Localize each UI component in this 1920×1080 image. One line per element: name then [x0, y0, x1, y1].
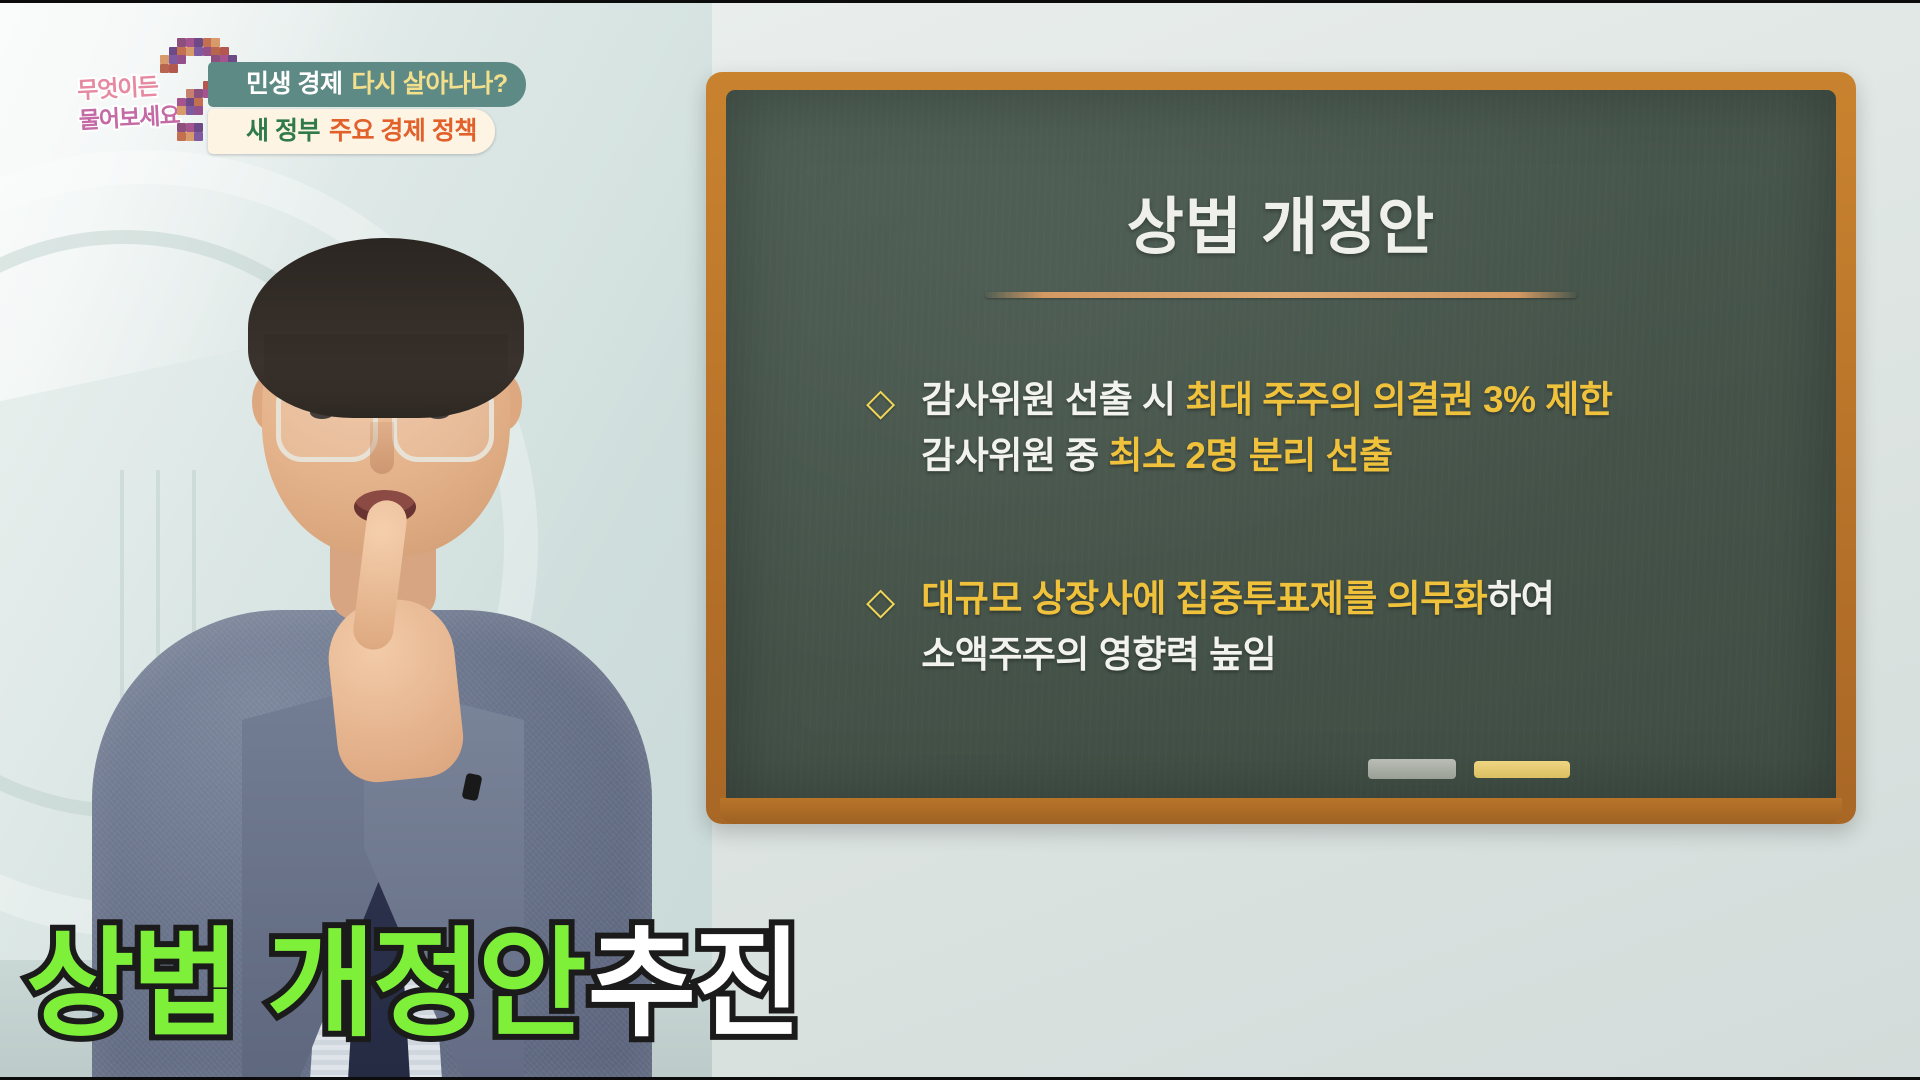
board-bullet-1-text: 감사위원 선출 시 최대 주주의 의결권 3% 제한 감사위원 중 최소 2명 … [921, 372, 1612, 483]
b1l1-seg2: 최대 주주의 의결권 3% 제한 [1185, 379, 1612, 420]
b2l1-seg1: 대규모 상장사에 집중투표제를 의무화 [921, 578, 1487, 619]
presenter-nose [370, 422, 394, 474]
title-banner: 민생 경제 다시 살아나나? 새 정부 주요 경제 정책 [208, 62, 648, 154]
logo-pixel [194, 89, 203, 98]
board-bullet-2-line-1: 대규모 상장사에 집중투표제를 의무화하여 [921, 571, 1554, 627]
lower-third-caption: 상법 개정안 추진 [26, 926, 799, 1044]
b1l2-seg1: 감사위원 중 [921, 435, 1108, 476]
logo-pixel [194, 106, 203, 115]
banner-row-2: 새 정부 주요 경제 정책 [208, 109, 495, 154]
presenter-hair [248, 238, 524, 418]
board-bullet-1-line-1: 감사위원 선출 시 최대 주주의 의결권 3% 제한 [921, 372, 1612, 428]
b1l2-seg2: 최소 2명 분리 선출 [1109, 435, 1393, 476]
board-title: 상법 개정안 [786, 176, 1776, 266]
board-title-underline [985, 292, 1577, 298]
studio-right-pane: 상법 개정안 ◇ 감사위원 선출 시 최대 주주의 의결권 3% 제한 감사위원… [712, 0, 1920, 1080]
diamond-bullet-icon: ◇ [866, 384, 895, 422]
banner-row1-seg1: 민생 경제 [246, 72, 342, 97]
caption-part-1: 상법 개정안 [26, 926, 584, 1044]
chalk-stick [1474, 761, 1570, 778]
logo-pixel [194, 123, 203, 132]
logo-pixel [177, 106, 186, 115]
logo-pixel [177, 55, 186, 64]
banner-row2-seg1: 새 정부 [246, 119, 320, 144]
chalkboard-surface: 상법 개정안 ◇ 감사위원 선출 시 최대 주주의 의결권 3% 제한 감사위원… [726, 90, 1836, 806]
b1l1-seg1: 감사위원 선출 시 [921, 379, 1185, 420]
board-bullet-2-line-2: 소액주주의 영향력 높임 [921, 627, 1554, 683]
board-bullet-1-line-2: 감사위원 중 최소 2명 분리 선출 [921, 428, 1612, 484]
logo-pixel [194, 47, 203, 56]
logo-pixel [194, 132, 203, 141]
banner-row-1: 민생 경제 다시 살아나나? [208, 62, 526, 107]
logo-pixel [211, 38, 220, 47]
b2l1-seg2: 하여 [1487, 578, 1554, 619]
logo-pixel [177, 132, 186, 141]
banner-row1-seg2: 다시 살아나나? [351, 72, 507, 97]
board-bullet-2: ◇ 대규모 상장사에 집중투표제를 의무화하여 소액주주의 영향력 높임 [866, 571, 1696, 682]
board-bullet-1: ◇ 감사위원 선출 시 최대 주주의 의결권 3% 제한 감사위원 중 최소 2… [866, 372, 1696, 483]
diamond-bullet-icon: ◇ [866, 583, 895, 621]
logo-pixel [160, 55, 169, 64]
chalkboard-content: 상법 개정안 ◇ 감사위원 선출 시 최대 주주의 의결권 3% 제한 감사위원… [726, 90, 1836, 806]
logo-pixel [160, 64, 169, 73]
logo-pixel [194, 38, 203, 47]
logo-pixel [169, 64, 178, 73]
logo-pixel [177, 38, 186, 47]
studio-left-pane: 무엇이든 물어보세요 [0, 0, 712, 1080]
letterbox-top [0, 0, 1920, 3]
chalkboard-frame: 상법 개정안 ◇ 감사위원 선출 시 최대 주주의 의결권 3% 제한 감사위원… [706, 72, 1856, 824]
broadcast-screen: 무엇이든 물어보세요 민생 경제 다시 살아나나? 새 정부 주요 경제 정책 … [0, 0, 1920, 1080]
chalk-tray [720, 798, 1842, 824]
board-bullet-2-text: 대규모 상장사에 집중투표제를 의무화하여 소액주주의 영향력 높임 [921, 571, 1554, 682]
b2l2-seg1: 소액주주의 영향력 높임 [921, 634, 1276, 675]
logo-pixel [177, 123, 186, 132]
blackboard-eraser [1368, 759, 1456, 779]
caption-part-2: 추진 [588, 926, 799, 1044]
banner-row2-seg2: 주요 경제 정책 [329, 119, 477, 144]
